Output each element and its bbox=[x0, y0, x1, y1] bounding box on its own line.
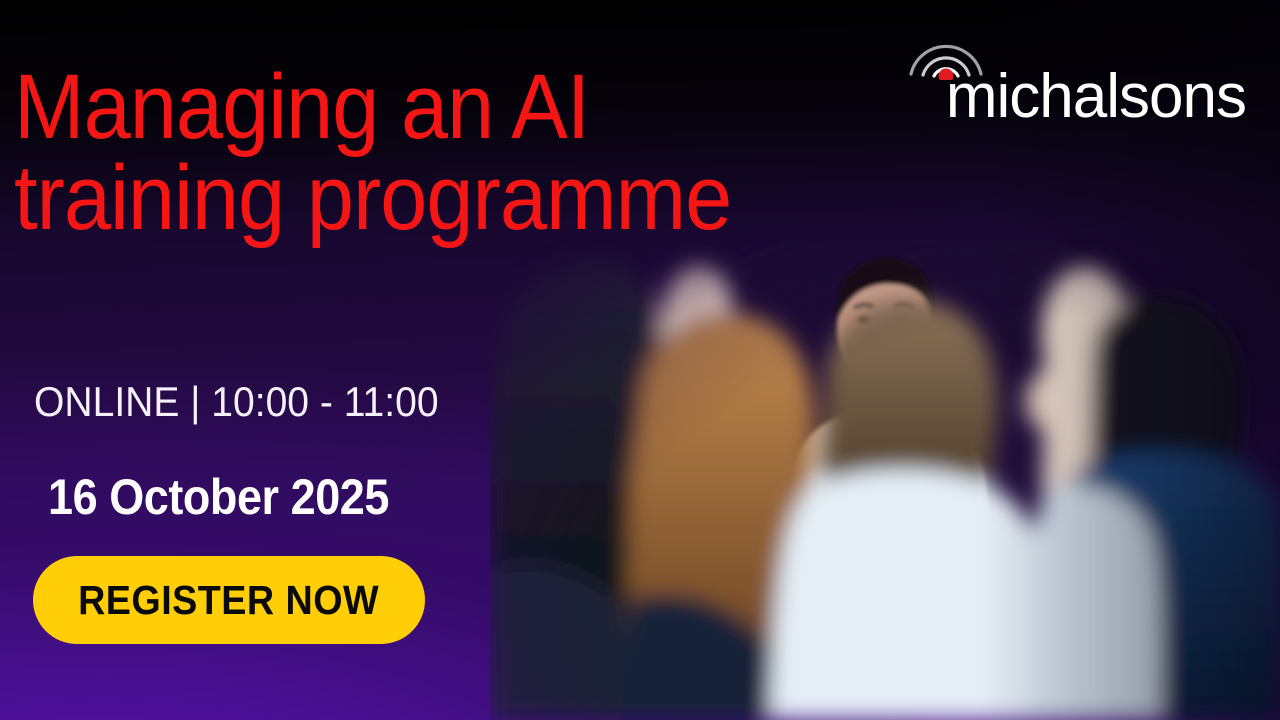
register-now-label: REGISTER NOW bbox=[78, 577, 379, 624]
event-photo bbox=[490, 240, 1280, 720]
photo-illustration bbox=[490, 240, 1280, 720]
promo-banner: michalsons Managing an AI training progr… bbox=[0, 0, 1280, 720]
headline-line-2: training programme bbox=[14, 153, 842, 244]
event-format-and-time: ONLINE | 10:00 - 11:00 bbox=[34, 378, 439, 426]
register-now-button[interactable]: REGISTER NOW bbox=[33, 556, 425, 644]
brand-logo[interactable]: michalsons bbox=[886, 30, 1246, 122]
event-date: 16 October 2025 bbox=[48, 468, 389, 526]
audience bbox=[490, 255, 1280, 720]
page-title: Managing an AI training programme bbox=[14, 62, 842, 244]
headline-line-1: Managing an AI bbox=[14, 56, 589, 158]
brand-name: michalsons bbox=[886, 66, 1246, 128]
